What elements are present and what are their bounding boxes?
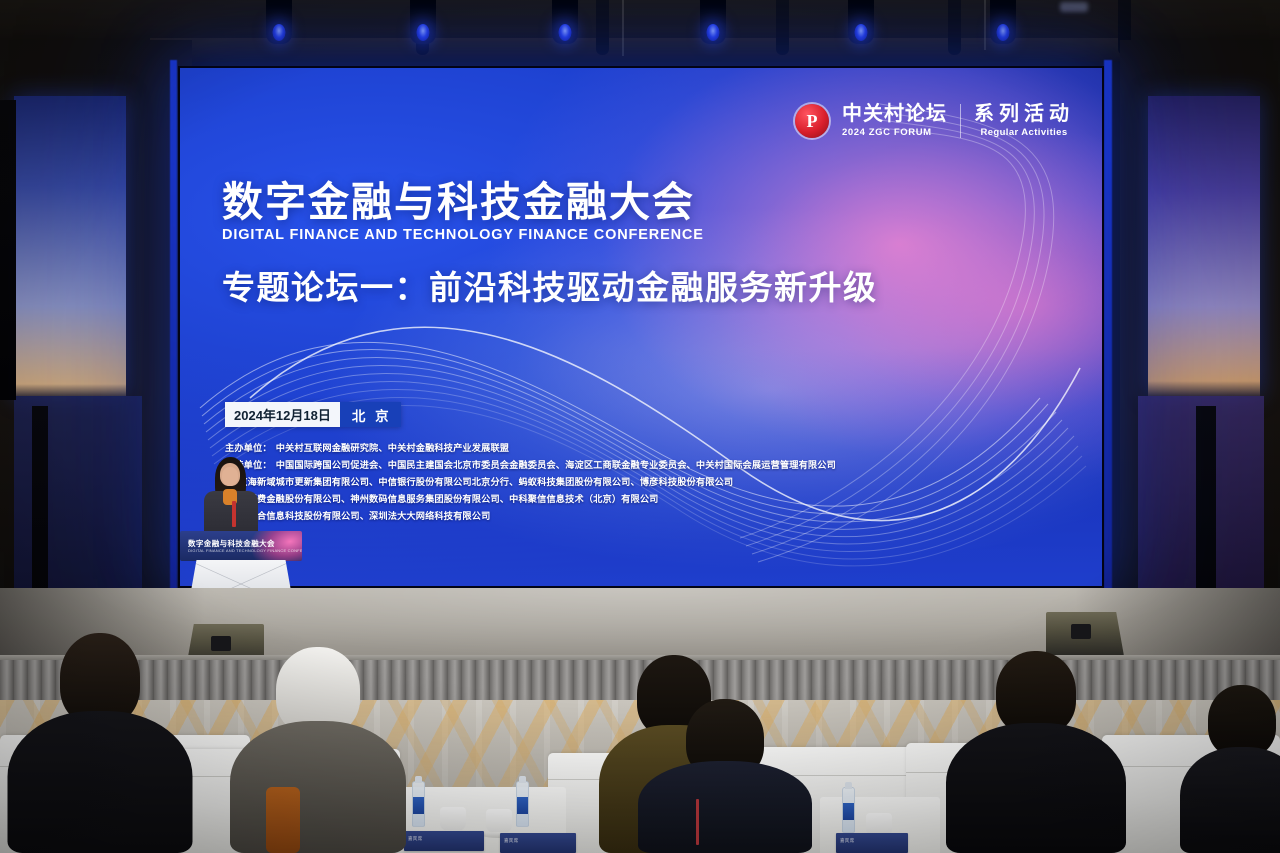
placard-text: 嘉宾席	[408, 836, 422, 842]
wall-panel-right	[1148, 96, 1260, 396]
podium-branding-panel: 数字金融与科技金融大会 DIGITAL FINANCE AND TECHNOLO…	[180, 531, 302, 561]
logo-text-primary: 中关村论坛 2024 ZGC FORUM	[842, 103, 947, 138]
speaker-lanyard	[232, 501, 236, 527]
name-placard: 嘉宾席	[404, 831, 484, 851]
podium-brand-en: DIGITAL FINANCE AND TECHNOLOGY FINANCE C…	[188, 548, 302, 553]
wall-slot-left	[0, 100, 16, 400]
credit-line: 北京海新域城市更新集团有限公司、中信银行股份有限公司北京分行、蚂蚁科技集团股份有…	[225, 474, 836, 491]
person-lanyard	[696, 799, 699, 845]
credit-line: 支持单位：中国国际跨国公司促进会、中国民主建国会北京市委员会金融委员会、海淀区工…	[225, 457, 836, 474]
ceiling-spot-glow	[1060, 2, 1088, 12]
audience-member	[10, 653, 190, 853]
logo-en-name: 2024 ZGC FORUM	[842, 127, 947, 138]
monitor-grille	[1071, 624, 1091, 639]
placard-text: 嘉宾席	[504, 838, 518, 844]
stage-light	[410, 0, 436, 44]
credit-line: 主办单位：中关村互联网金融研究院、中关村金融科技产业发展联盟	[225, 440, 836, 457]
water-bottle	[516, 781, 529, 827]
credit-line: 上海合合信息科技股份有限公司、深圳法大大网络科技有限公司	[225, 508, 836, 525]
forum-emblem-icon: P	[795, 104, 829, 138]
person-shoulders	[946, 723, 1126, 853]
hanging-cable	[622, 0, 624, 56]
truss-arm	[948, 0, 961, 55]
credit-text: 中国国际跨国公司促进会、中国民主建国会北京市委员会金融委员会、海淀区工商联金融专…	[276, 460, 836, 470]
logo-secondary-en: Regular Activities	[974, 127, 1074, 138]
podium-and-speaker: 数字金融与科技金融大会 DIGITAL FINANCE AND TECHNOLO…	[176, 455, 306, 605]
audience-member	[228, 663, 408, 853]
forum-emblem-glyph: P	[807, 112, 818, 130]
bottle-label	[843, 803, 854, 820]
logo-secondary-cn: 系列活动	[974, 103, 1074, 125]
stage-light	[848, 0, 874, 44]
person-scarf	[266, 787, 300, 853]
organizer-credits: 主办单位：中关村互联网金融研究院、中关村金融科技产业发展联盟 支持单位：中国国际…	[225, 440, 836, 525]
monitor-grille	[211, 636, 231, 651]
person-shoulders	[230, 721, 406, 853]
stage-light	[990, 0, 1016, 44]
bottle-cap	[415, 776, 422, 783]
stage-light	[266, 0, 292, 44]
audience-member	[640, 723, 810, 853]
bottle-cap	[845, 782, 852, 789]
bottle-label	[413, 797, 424, 814]
zgc-forum-logo: P 中关村论坛 2024 ZGC FORUM 系列活动 Regular Acti…	[795, 103, 1074, 138]
credit-label: 主办单位：	[225, 443, 272, 453]
screen-title-block: 数字金融与科技金融大会 DIGITAL FINANCE AND TECHNOLO…	[222, 180, 878, 309]
person-shoulders	[1180, 747, 1280, 853]
conference-title-en: DIGITAL FINANCE AND TECHNOLOGY FINANCE C…	[222, 227, 878, 243]
led-screen: P 中关村论坛 2024 ZGC FORUM 系列活动 Regular Acti…	[178, 66, 1104, 588]
conference-title-cn: 数字金融与科技金融大会	[222, 180, 878, 224]
led-screen-content: P 中关村论坛 2024 ZGC FORUM 系列活动 Regular Acti…	[180, 68, 1102, 586]
teacup	[440, 807, 466, 831]
audience-member	[948, 669, 1124, 853]
stage-monitor-speaker	[1046, 612, 1124, 656]
water-bottle	[412, 781, 425, 827]
conference-photo-scene: P 中关村论坛 2024 ZGC FORUM 系列活动 Regular Acti…	[0, 0, 1280, 853]
event-date: 2024年12月18日	[225, 402, 340, 427]
name-placard: 嘉宾席	[500, 833, 576, 853]
audience-member	[1182, 703, 1280, 853]
teacup	[486, 809, 512, 833]
logo-text-secondary: 系列活动 Regular Activities	[974, 103, 1074, 138]
name-placard: 嘉宾席	[836, 833, 908, 853]
person-shoulders	[8, 711, 193, 853]
wall-panel-left	[14, 96, 126, 396]
hanging-cable	[984, 0, 986, 50]
credit-line: 马上消费金融股份有限公司、神州数码信息服务集团股份有限公司、中科聚信信息技术（北…	[225, 491, 836, 508]
stage-light	[552, 0, 578, 44]
date-location-badge: 2024年12月18日 北 京	[225, 402, 401, 427]
person-shoulders	[638, 761, 812, 853]
bottle-cap	[519, 776, 526, 783]
stage-light	[700, 0, 726, 44]
bottle-label	[517, 797, 528, 814]
credit-text: 中关村互联网金融研究院、中关村金融科技产业发展联盟	[276, 443, 509, 453]
placard-text: 嘉宾席	[840, 838, 854, 844]
ceiling-beam	[150, 38, 1130, 62]
logo-cn-name: 中关村论坛	[842, 103, 947, 125]
wall-light-edge-right	[1104, 60, 1112, 600]
truss-arm	[776, 0, 789, 55]
speaker-face	[222, 467, 238, 486]
event-city: 北 京	[340, 402, 401, 427]
conference-subtitle-cn: 专题论坛一：前沿科技驱动金融服务新升级	[222, 261, 878, 309]
truss-arm	[596, 0, 609, 55]
logo-divider	[960, 104, 961, 138]
water-bottle	[842, 787, 855, 833]
